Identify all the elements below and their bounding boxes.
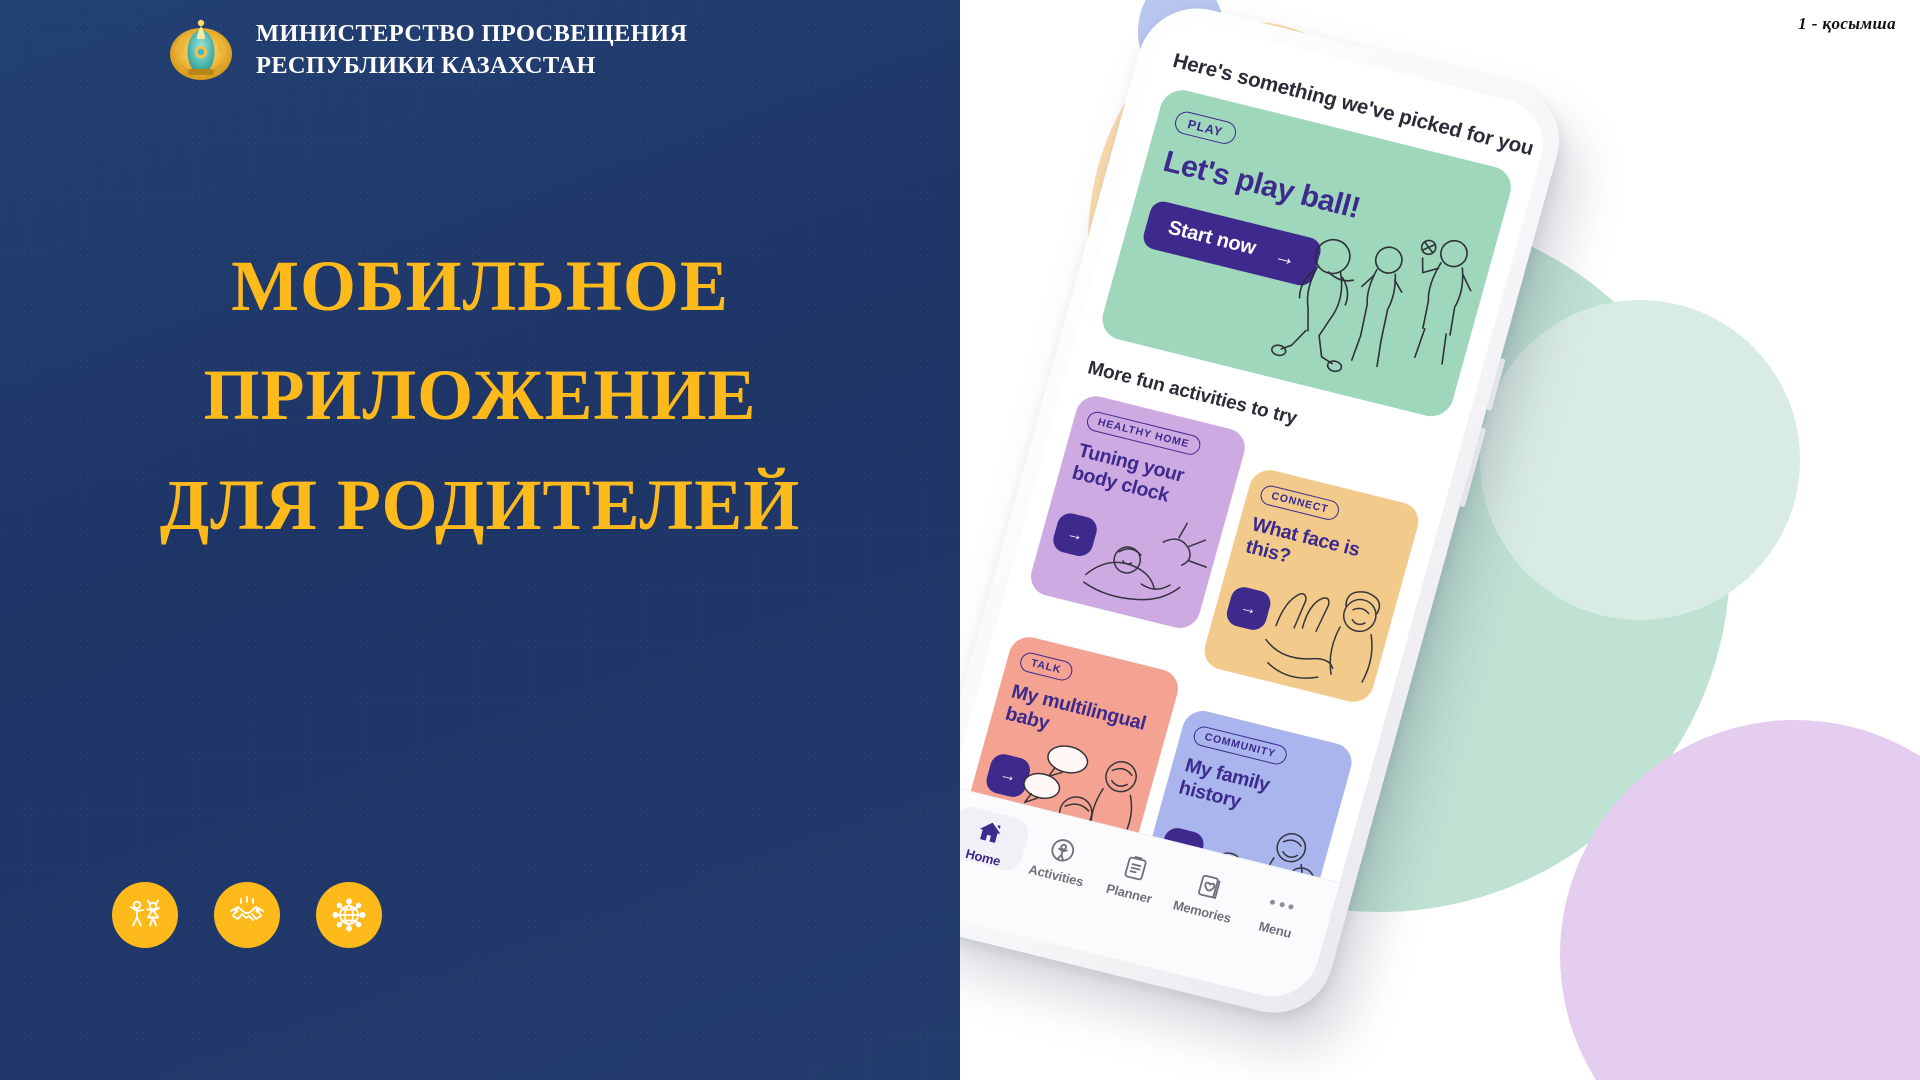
ministry-name: МИНИСТЕРСТВО ПРОСВЕЩЕНИЯ РЕСПУБЛИКИ КАЗА… — [256, 18, 687, 83]
nav-label: Menu — [1257, 918, 1293, 940]
title-panel: МИНИСТЕРСТВО ПРОСВЕЩЕНИЯ РЕСПУБЛИКИ КАЗА… — [0, 0, 960, 1080]
arrow-right-icon: → — [997, 764, 1019, 787]
family-playing-ball-illustration — [1238, 173, 1498, 421]
card-tag: TALK — [1018, 651, 1075, 683]
ministry-lockup: МИНИСТЕРСТВО ПРОСВЕЩЕНИЯ РЕСПУБЛИКИ КАЗА… — [168, 14, 687, 86]
presentation-slide: МИНИСТЕРСТВО ПРОСВЕЩЕНИЯ РЕСПУБЛИКИ КАЗА… — [0, 0, 1920, 1080]
nav-item-menu[interactable]: Menu — [1237, 876, 1323, 946]
nav-label: Home — [964, 846, 1002, 869]
title-line-1: МОБИЛЬНОЕ — [0, 232, 960, 341]
activities-icon — [1046, 834, 1079, 867]
badge-row — [112, 882, 382, 948]
memories-icon — [1192, 870, 1225, 903]
badge-children — [112, 882, 178, 948]
nav-item-home[interactable]: Home — [960, 804, 1031, 874]
hero-tag: PLAY — [1172, 109, 1238, 146]
nav-item-activities[interactable]: Activities — [1018, 822, 1104, 892]
menu-dots-icon — [1267, 889, 1298, 921]
nav-item-memories[interactable]: Memories — [1164, 858, 1250, 928]
appendix-note: 1 - қосымша — [1798, 14, 1896, 34]
title-line-2: ПРИЛОЖЕНИЕ — [0, 341, 960, 450]
children-playing-icon — [125, 895, 165, 935]
page-title: МОБИЛЬНОЕ ПРИЛОЖЕНИЕ ДЛЯ РОДИТЕЛЕЙ — [0, 232, 960, 560]
badge-partnership — [214, 882, 280, 948]
decorative-circle-mint-light — [1480, 300, 1800, 620]
arrow-right-icon: → — [1064, 523, 1086, 546]
nav-item-planner[interactable]: Planner — [1091, 840, 1177, 910]
activity-card-healthy-home[interactable]: HEALTHY HOME Tuning your body clock → — [1026, 392, 1249, 632]
nav-label: Activities — [1027, 862, 1085, 890]
home-icon — [973, 816, 1006, 849]
arrow-right-icon: → — [1238, 597, 1260, 620]
activity-card-connect[interactable]: CONNECT What face is this? → — [1200, 466, 1423, 706]
global-network-icon — [329, 895, 369, 935]
handshake-icon — [227, 895, 267, 935]
nav-label: Planner — [1105, 881, 1154, 907]
title-line-3: ДЛЯ РОДИТЕЛЕЙ — [0, 451, 960, 560]
planner-icon — [1119, 852, 1152, 885]
visual-stage: Here's something we've picked for you PL… — [960, 0, 1920, 1080]
nav-label: Memories — [1171, 897, 1232, 926]
start-now-label: Start now — [1165, 217, 1258, 261]
badge-global — [316, 882, 382, 948]
kazakhstan-state-emblem-icon — [168, 14, 234, 86]
